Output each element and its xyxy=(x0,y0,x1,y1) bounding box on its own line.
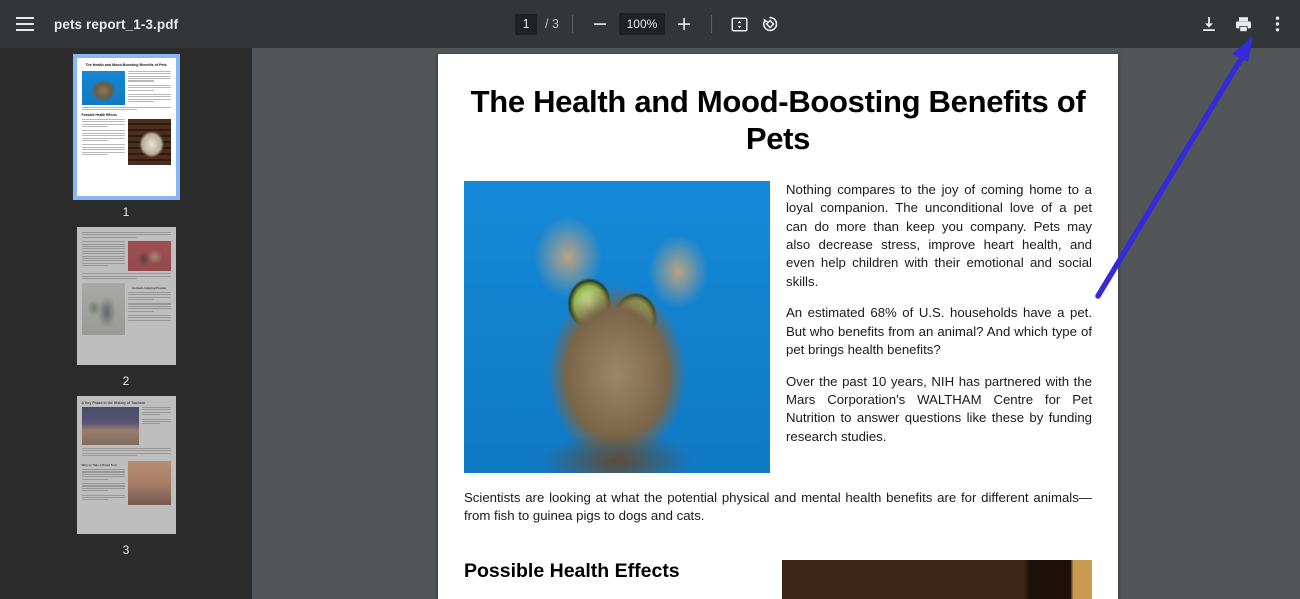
pdf-page-1: The Health and Mood-Boosting Benefits of… xyxy=(438,54,1118,599)
thumbnail-3-city-image xyxy=(82,407,139,445)
thumbnail-2-bottom-text: Animals Helping People xyxy=(128,283,171,335)
thumbnail-3-heading: Why to Take a Road Tour xyxy=(82,463,125,467)
thumbnail-2-cat-col xyxy=(82,283,125,335)
thumbnail-1-bottom-text xyxy=(82,119,125,165)
toolbar-divider-2 xyxy=(711,15,712,33)
thumbnail-3-bottom-text: Why to Take a Road Tour xyxy=(82,461,125,505)
thumbnail-item-3[interactable]: A Key Phase in the History of Tourism xyxy=(77,396,176,557)
thumbnail-3-tower-col xyxy=(128,461,171,505)
thumbnail-page-1[interactable]: The Health and Mood-Boosting Benefits of… xyxy=(77,58,176,196)
zoom-out-button[interactable] xyxy=(586,10,614,38)
pdf-viewer[interactable]: The Health and Mood-Boosting Benefits of… xyxy=(252,48,1300,599)
zoom-in-button[interactable] xyxy=(670,10,698,38)
thumbnail-3-city-col xyxy=(82,407,139,445)
intro-paragraph-2: An estimated 68% of U.S. households have… xyxy=(786,304,1092,359)
more-vertical-icon[interactable] xyxy=(1262,9,1292,39)
thumbnail-3-title: A Key Phase in the History of Tourism xyxy=(82,401,171,405)
thumbnail-3-number: 3 xyxy=(123,543,130,557)
thumbnail-1-cat-image xyxy=(82,71,125,105)
intro-block: Nothing compares to the joy of coming ho… xyxy=(464,181,1092,473)
thumbnail-1-dog-image xyxy=(128,119,171,165)
health-effects-section: Possible Health Effects Research on huma… xyxy=(464,560,1092,599)
page-total-label: / 3 xyxy=(545,17,559,31)
toolbar-center-group: 1 / 3 100% xyxy=(515,0,785,48)
thumbnail-1-bottom-row xyxy=(82,119,171,165)
health-effects-text: Possible Health Effects Research on huma… xyxy=(464,560,762,599)
thumbnail-1-dog-col xyxy=(128,119,171,165)
thumbnail-1-content: The Health and Mood-Boosting Benefits of… xyxy=(77,58,176,196)
thumbnail-1-top-row xyxy=(82,71,171,105)
thumbnail-2-red-image xyxy=(128,241,171,271)
toolbar-divider-1 xyxy=(572,15,573,33)
download-icon[interactable] xyxy=(1194,9,1224,39)
thumbnail-page-3[interactable]: A Key Phase in the History of Tourism xyxy=(77,396,176,534)
thumbnail-1-image-col xyxy=(82,71,125,105)
full-width-paragraph: Scientists are looking at what the poten… xyxy=(464,489,1092,526)
thumbnail-2-top-row xyxy=(82,241,171,271)
section-heading: Possible Health Effects xyxy=(464,560,762,583)
page-number-input[interactable]: 1 xyxy=(515,14,537,35)
thumbnail-1-heading: Possible Health Effects xyxy=(82,113,171,117)
thumbnail-2-content: Animals Helping People xyxy=(77,227,176,365)
thumbnail-page-2[interactable]: Animals Helping People xyxy=(77,227,176,365)
rotate-counterclockwise-icon[interactable] xyxy=(755,9,785,39)
thumbnail-2-number: 2 xyxy=(123,374,130,388)
document-title: pets report_1-3.pdf xyxy=(54,17,178,32)
thumbnail-item-1[interactable]: The Health and Mood-Boosting Benefits of… xyxy=(77,58,176,219)
cat-photo xyxy=(464,181,770,473)
thumbnail-3-bottom-row: Why to Take a Road Tour xyxy=(82,461,171,505)
intro-paragraph-3: Over the past 10 years, NIH has partnere… xyxy=(786,373,1092,446)
intro-text-column: Nothing compares to the joy of coming ho… xyxy=(786,181,1092,446)
print-icon[interactable] xyxy=(1228,9,1258,39)
thumbnail-2-text-col xyxy=(82,241,125,271)
intro-paragraph-1: Nothing compares to the joy of coming ho… xyxy=(786,181,1092,291)
document-heading: The Health and Mood-Boosting Benefits of… xyxy=(464,84,1092,157)
zoom-level-input[interactable]: 100% xyxy=(619,13,665,35)
thumbnail-2-grey-cat-image xyxy=(82,283,125,335)
thumbnail-2-red-col xyxy=(128,241,171,271)
hamburger-menu-icon[interactable] xyxy=(10,9,40,39)
toolbar-left-group: pets report_1-3.pdf xyxy=(0,0,178,48)
dog-photo xyxy=(782,560,1092,599)
thumbnail-3-content: A Key Phase in the History of Tourism xyxy=(77,396,176,534)
pdf-toolbar: pets report_1-3.pdf 1 / 3 100% xyxy=(0,0,1300,48)
thumbnail-3-tower-image xyxy=(128,461,171,505)
thumbnail-1-number: 1 xyxy=(123,205,130,219)
thumbnail-3-text-col xyxy=(142,407,171,445)
thumbnail-1-title: The Health and Mood-Boosting Benefits of… xyxy=(82,63,171,68)
thumbnail-2-bottom-row: Animals Helping People xyxy=(82,283,171,335)
thumbnail-sidebar[interactable]: The Health and Mood-Boosting Benefits of… xyxy=(0,48,252,599)
toolbar-right-group xyxy=(1194,0,1292,48)
thumbnail-item-2[interactable]: Animals Helping People 2 xyxy=(77,227,176,388)
fit-to-page-icon[interactable] xyxy=(725,9,755,39)
thumbnail-3-top-row xyxy=(82,407,171,445)
thumbnail-1-text-col xyxy=(128,71,171,105)
thumbnail-list: The Health and Mood-Boosting Benefits of… xyxy=(0,48,252,565)
thumbnail-2-heading: Animals Helping People xyxy=(128,286,171,290)
